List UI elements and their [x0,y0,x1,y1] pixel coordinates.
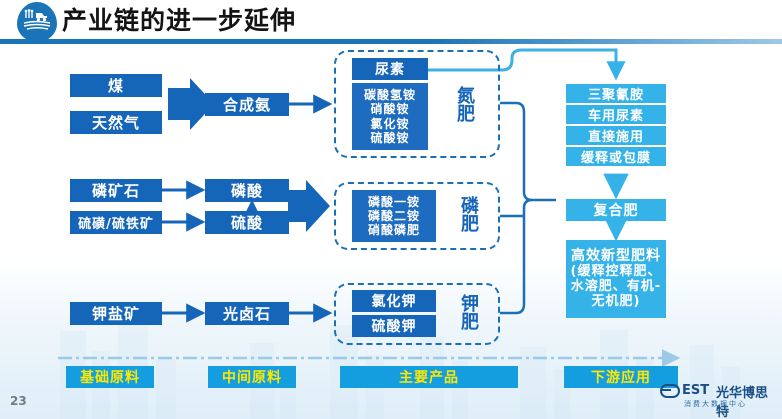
group-label-phosphate: 磷 肥 [450,198,490,235]
brand-mark-icon [660,384,680,398]
downstream-vehicle-urea[interactable]: 车用尿素 [566,105,666,124]
phase-basic-materials[interactable]: 基础原料 [66,366,154,388]
brand-name-en: EST [682,383,709,398]
product-urea[interactable]: 尿素 [352,58,428,80]
brand-logo: EST 光华博思特 消费大数据中心 [658,382,774,414]
group-label-potash-char2: 肥 [450,314,490,332]
intermediate-phosphoric-acid[interactable]: 磷酸 [205,179,289,202]
product-ammonium-chloride: 氯化铵 [370,117,409,131]
intermediate-synthetic-ammonia[interactable]: 合成氨 [205,93,289,116]
product-potassium-chloride[interactable]: 氯化钾 [352,290,436,312]
block-arrow-phosphate [288,180,330,232]
product-list-nitrogen[interactable]: 碳酸氢铵 硝酸铵 氯化铵 硫酸铵 [352,83,428,150]
group-label-potash: 钾 肥 [450,296,490,333]
downstream-direct-use[interactable]: 直接施用 [566,126,666,145]
brand-subtitle: 消费大数据中心 [684,399,747,409]
product-potassium-sulfate[interactable]: 硫酸钾 [352,315,436,337]
slide-canvas: 产业链的进一步延伸 [0,0,782,419]
downstream-melamine[interactable]: 三聚氰胺 [566,84,666,103]
material-phosphate-rock[interactable]: 磷矿石 [70,179,162,202]
material-coal[interactable]: 煤 [70,74,162,97]
group-label-nitrogen-char2: 肥 [446,106,486,124]
phase-intermediates[interactable]: 中间原料 [208,366,296,388]
intermediate-carnallite[interactable]: 光卤石 [205,302,289,325]
product-list-phosphate[interactable]: 磷酸一铵 磷酸二铵 硝酸磷肥 [352,190,436,242]
downstream-compound-fertilizer[interactable]: 复合肥 [566,199,666,221]
downstream-slow-release-coated[interactable]: 缓释或包膜 [566,147,666,166]
downstream-new-fertilizer[interactable]: 高效新型肥料 (缓释控释肥、水溶肥、有机-无机肥) [566,240,666,318]
material-sulfur-pyrite[interactable]: 硫磺/硫铁矿 [70,211,162,234]
group-label-phosphate-char2: 肥 [450,216,490,234]
material-natural-gas[interactable]: 天然气 [70,111,162,134]
product-ammonium-nitrate: 硝酸铵 [370,102,409,116]
brand-mark-bar-icon [662,389,671,391]
product-dap: 磷酸二铵 [368,209,420,223]
product-map: 磷酸一铵 [368,195,420,209]
group-label-nitrogen: 氮 肥 [446,88,486,125]
page-number: 23 [10,394,27,408]
phase-main-products[interactable]: 主要产品 [340,366,518,388]
product-ammonium-sulfate: 硫酸铵 [370,131,409,145]
new-fertilizer-detail: (缓释控释肥、水溶肥、有机-无机肥) [568,265,664,310]
intermediate-sulfuric-acid[interactable]: 硫酸 [205,211,289,234]
new-fertilizer-title: 高效新型肥料 [571,248,661,265]
product-ammonium-bicarbonate: 碳酸氢铵 [364,88,416,102]
product-nitrophosphate: 硝酸磷肥 [368,223,420,237]
material-potash-ore[interactable]: 钾盐矿 [70,302,162,325]
